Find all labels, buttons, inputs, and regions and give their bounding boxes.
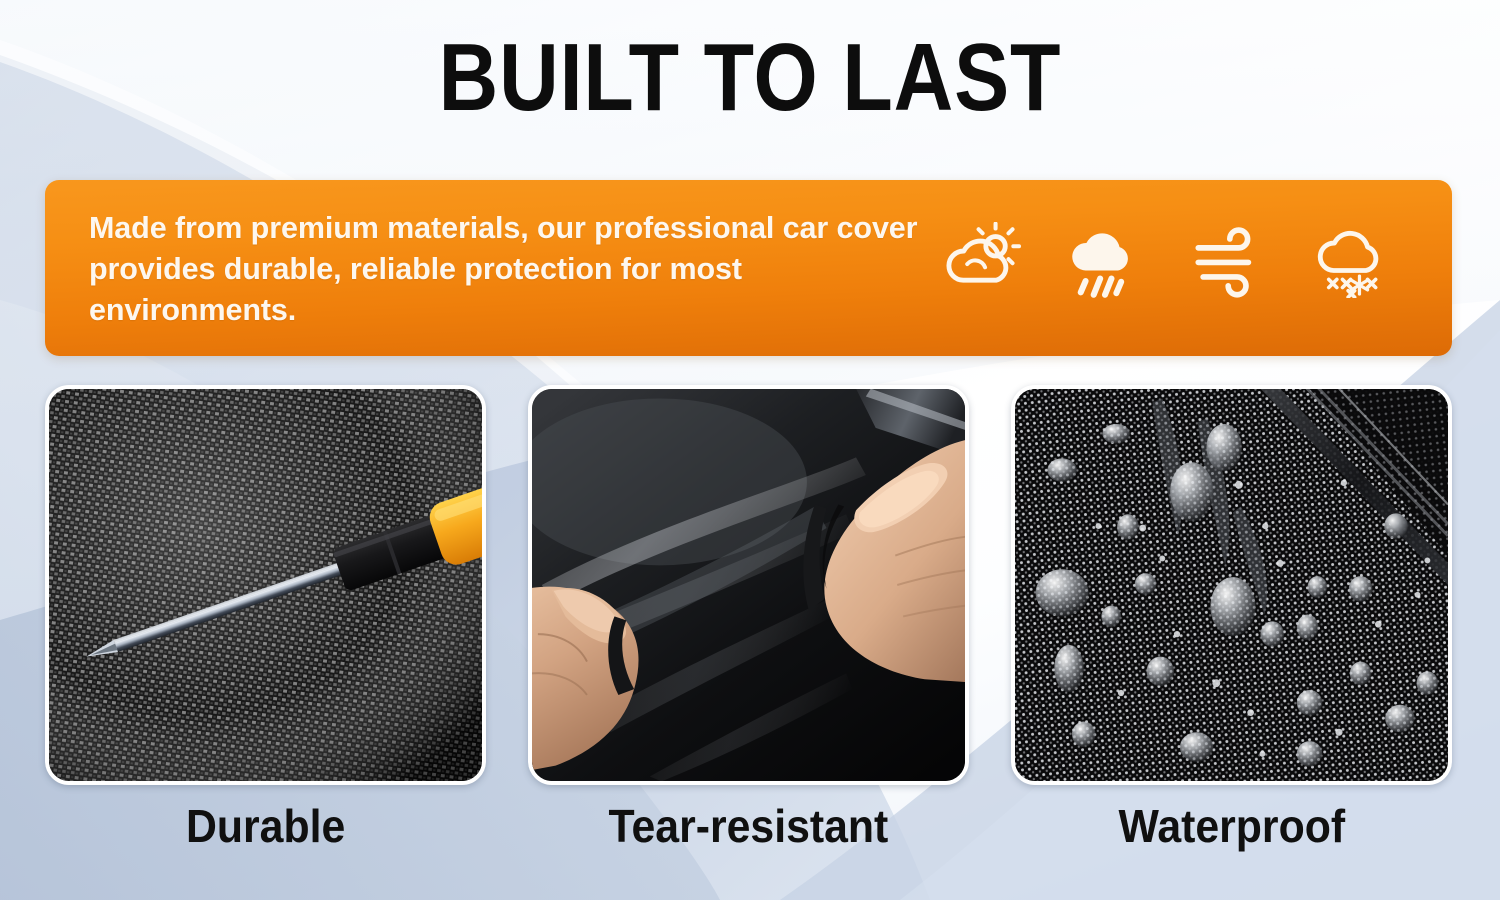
feature-waterproof: Waterproof (1011, 385, 1452, 853)
rain-cloud-icon (1064, 222, 1146, 298)
feature-image-card-waterproof[interactable] (1011, 385, 1452, 785)
feature-image-card-durable[interactable] (45, 385, 486, 785)
sun-behind-cloud-icon (940, 222, 1022, 298)
hands-stretching-fabric-photo (532, 389, 965, 781)
water-beads-fabric-photo (1015, 389, 1448, 781)
page-title: BUILT TO LAST (105, 28, 1395, 129)
snow-cloud-icon (1312, 222, 1394, 298)
feature-card-row: Durable (45, 385, 1452, 853)
banner-description-text: Made from premium materials, our profess… (89, 204, 940, 332)
feature-image-card-tear-resistant[interactable] (528, 385, 969, 785)
feature-caption-tear-resistant: Tear-resistant (609, 799, 889, 853)
feature-caption-durable: Durable (186, 799, 345, 853)
feature-caption-waterproof: Waterproof (1118, 799, 1345, 853)
feature-durable: Durable (45, 385, 486, 853)
weather-icon-group (940, 204, 1418, 298)
wind-icon (1188, 222, 1270, 298)
feature-tear-resistant: Tear-resistant (528, 385, 969, 853)
woven-fabric-screwdriver-photo (49, 389, 482, 781)
description-banner: Made from premium materials, our profess… (45, 180, 1452, 356)
